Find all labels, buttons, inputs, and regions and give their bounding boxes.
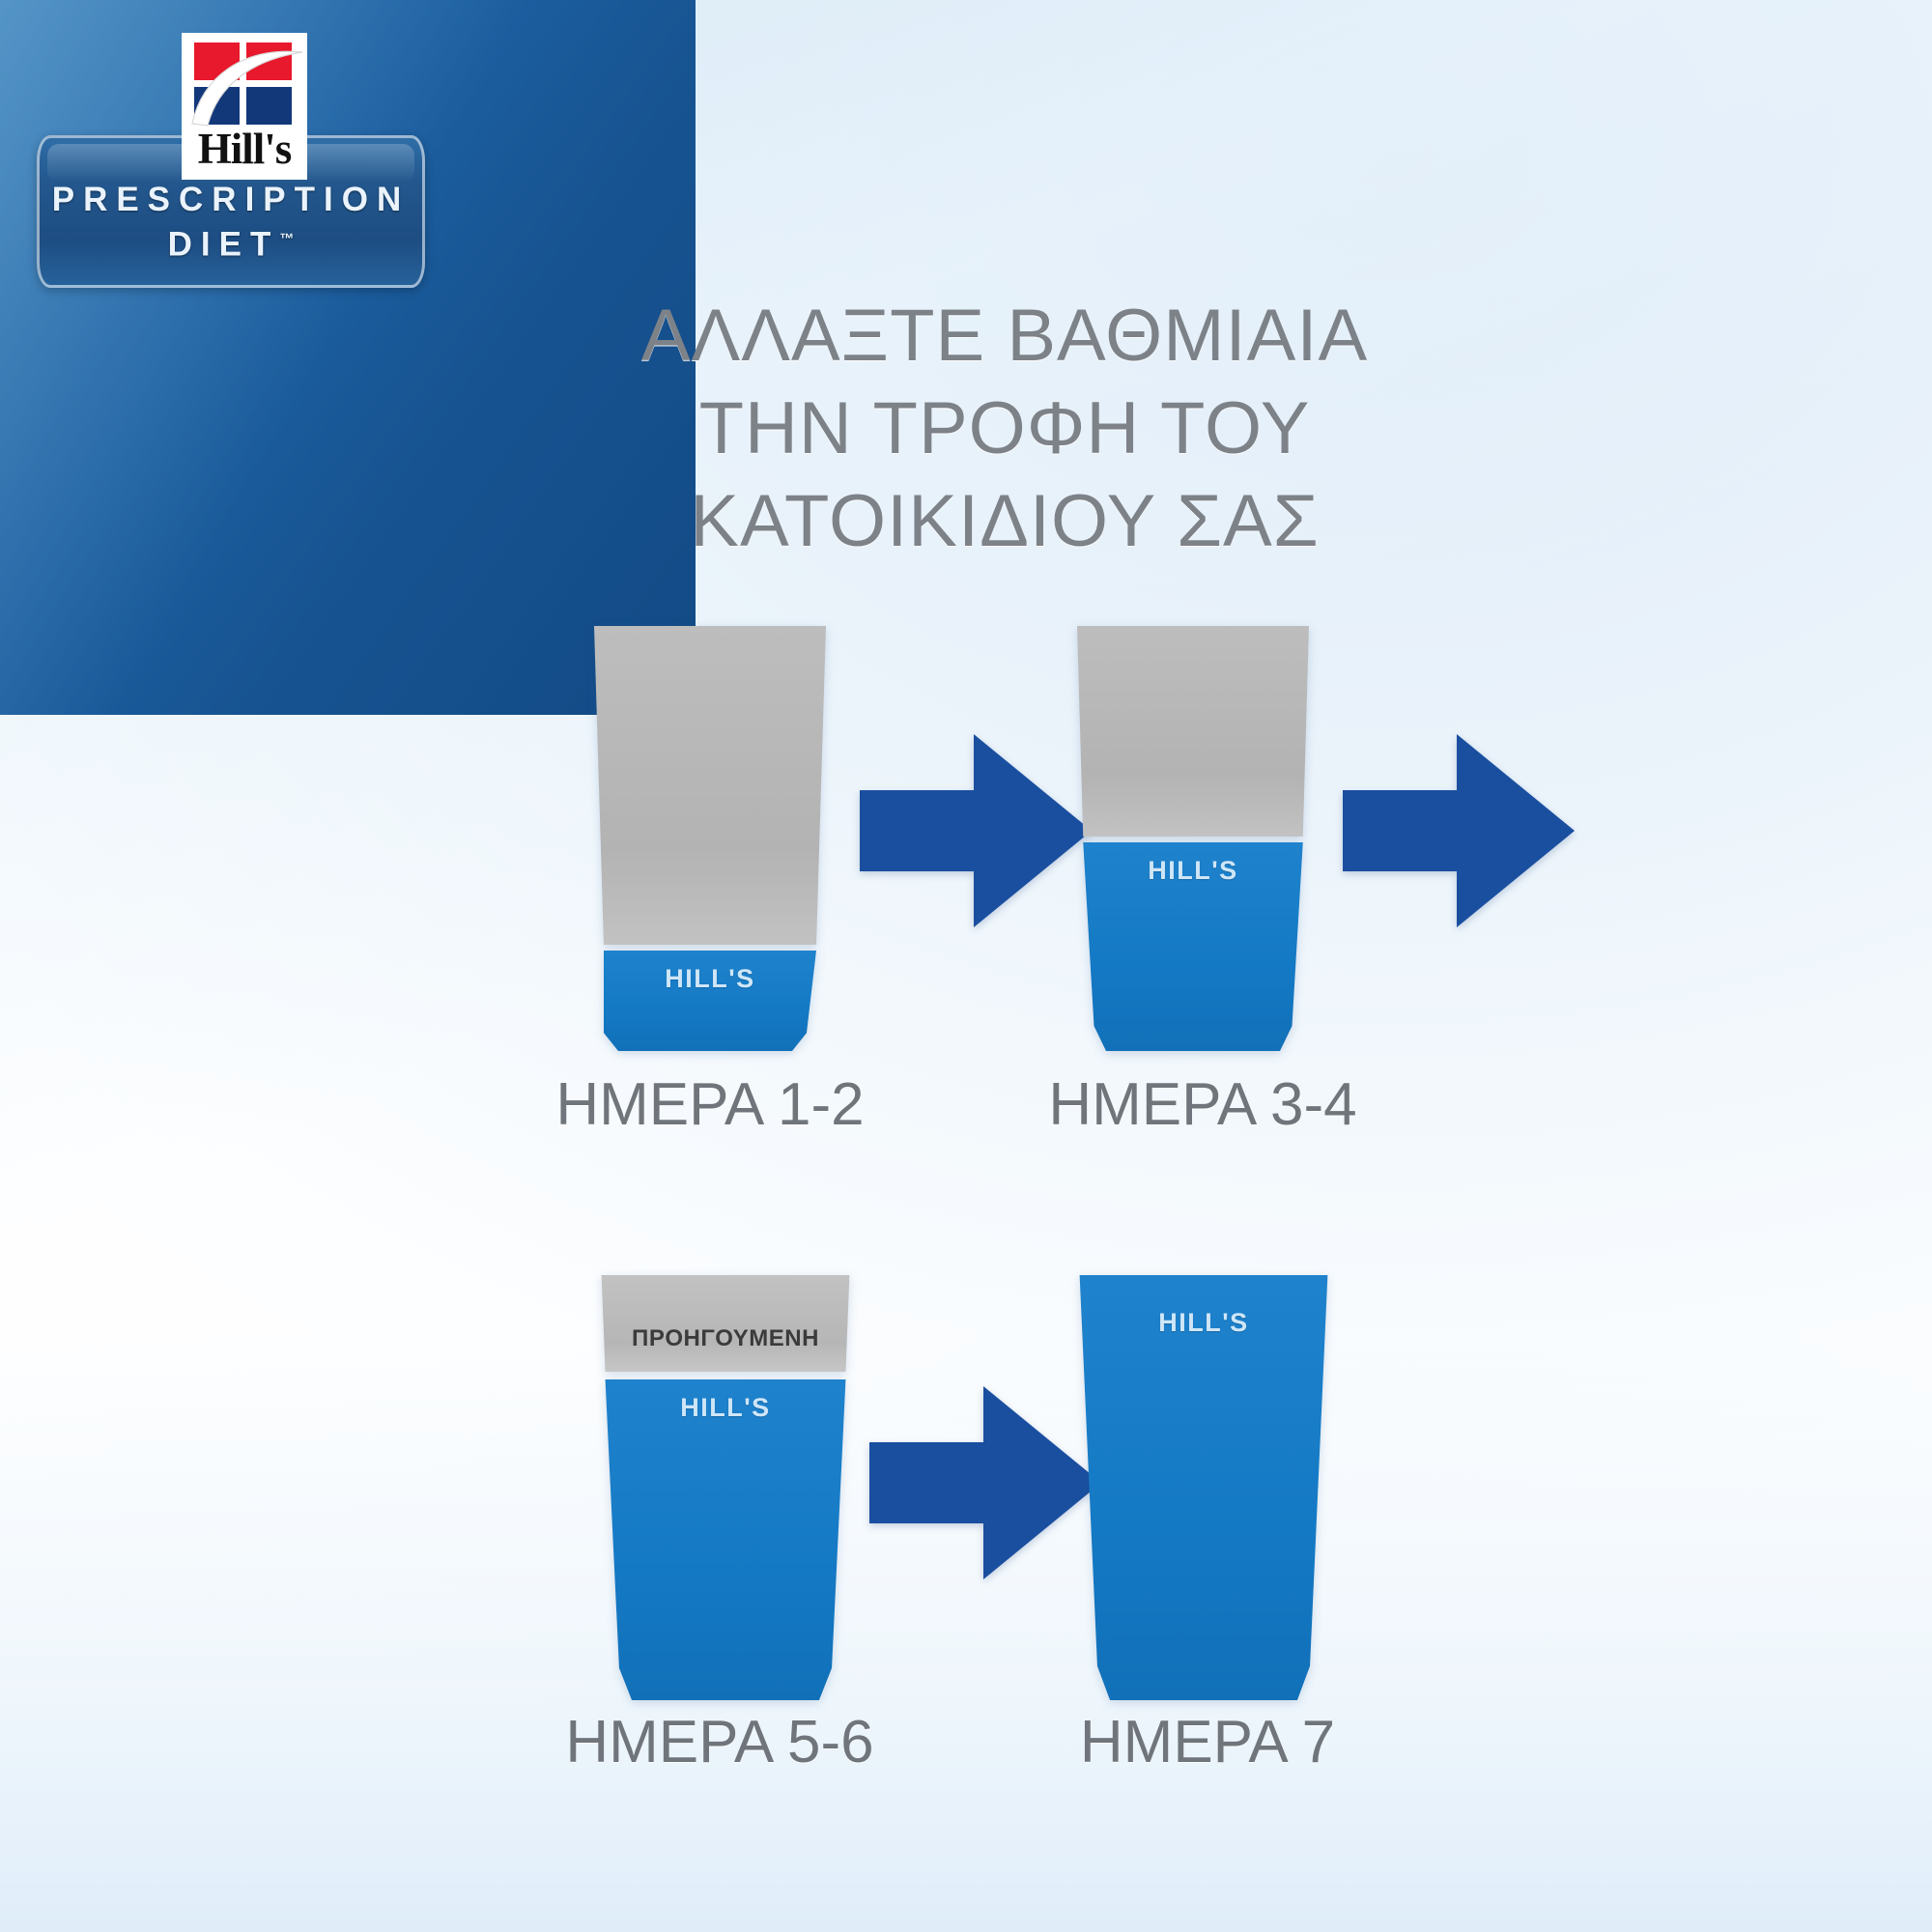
logo-swoosh-icon [188, 39, 306, 128]
new-food-segment: HILL'S [599, 1379, 852, 1700]
poster-canvas: Hill's PRESCRIPTION DIET™ ΑΛΛΑΞΤΕ ΒΑΘΜΙΑ… [0, 0, 1932, 1932]
day-label-5-6: ΗΜΕΡΑ 5-6 [464, 1708, 976, 1776]
hills-four-squares-icon [194, 43, 295, 126]
new-food-segment: HILL'S [1077, 1275, 1330, 1700]
feeding-transition-diagram: HILL'S ΗΜΕΡΑ 1-2 HILL'S ΗΜΕΡΑ 3-4 [0, 0, 1932, 1932]
old-food-label: ΠΡΟΗΓΟΥΜΕΝΗ [632, 1325, 819, 1352]
hills-wordmark: Hill's [198, 128, 292, 170]
arrow-right-icon-3 [869, 1386, 1101, 1579]
new-food-label: HILL'S [680, 1393, 770, 1423]
new-food-label: HILL'S [665, 964, 754, 994]
cup-day-5-6: ΠΡΟΗΓΟΥΜΕΝΗ HILL'S [599, 1275, 852, 1700]
ribbon-line-diet: DIET™ [168, 219, 295, 266]
hills-logo-icon: Hill's [182, 33, 307, 180]
new-food-label: HILL'S [1148, 856, 1237, 886]
arrow-right-icon-2 [1343, 734, 1575, 927]
old-food-segment [589, 626, 831, 945]
arrow-right-icon-1 [860, 734, 1092, 927]
ribbon-diet-text: DIET [168, 226, 280, 264]
old-food-segment: ΠΡΟΗΓΟΥΜΕΝΗ [599, 1275, 852, 1372]
trademark-symbol: ™ [279, 231, 294, 247]
old-food-segment [1072, 626, 1314, 837]
day-label-7: ΗΜΕΡΑ 7 [971, 1708, 1444, 1776]
day-label-1-2: ΗΜΕΡΑ 1-2 [464, 1070, 956, 1139]
new-food-label: HILL'S [1158, 1308, 1248, 1338]
ribbon-line-prescription: PRESCRIPTION [52, 181, 411, 219]
day-label-3-4: ΗΜΕΡΑ 3-4 [956, 1070, 1449, 1139]
cup-day-3-4: HILL'S [1072, 626, 1314, 1051]
new-food-segment: HILL'S [1072, 842, 1314, 1051]
new-food-segment: HILL'S [589, 951, 831, 1051]
cup-day-7: HILL'S [1077, 1275, 1330, 1700]
cup-day-1-2: HILL'S [589, 626, 831, 1051]
